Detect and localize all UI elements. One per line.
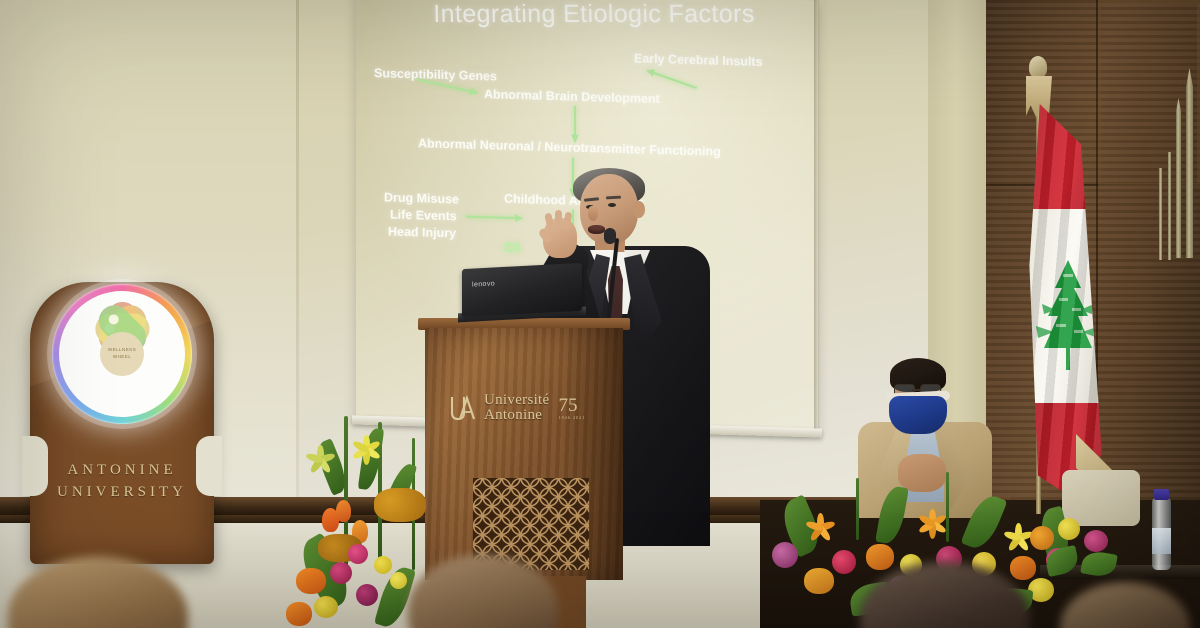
speaker-ear <box>633 201 645 218</box>
podium-anniversary-mark: 75 1946 2021 <box>558 396 585 420</box>
laptop-lid <box>462 263 582 317</box>
lily-bloom <box>304 444 336 476</box>
flag-tassels <box>1026 76 1052 118</box>
speaker-gesturing-hand <box>543 218 577 258</box>
slide-arrow-down-1 <box>574 106 576 136</box>
stand-name-line-2: UNIVERSITY <box>22 482 222 504</box>
lily-bloom <box>800 508 840 548</box>
podium-anniversary-years: 1946 2021 <box>558 416 585 420</box>
speaker-eye-right <box>608 203 616 207</box>
spire-decor-short-1 <box>1168 152 1171 260</box>
lily-bloom <box>346 430 386 470</box>
flag-finial-icon <box>1029 56 1047 78</box>
podium-anniversary-number: 75 <box>558 395 577 416</box>
seated-glasses-bridge <box>912 389 921 391</box>
bottle-label <box>1152 528 1171 554</box>
bottle-cap <box>1154 489 1169 500</box>
laptop[interactable]: lenovo <box>456 266 582 324</box>
speaker-nose <box>588 206 598 221</box>
spire-decor-tall <box>1186 68 1193 258</box>
speaker-mouth <box>588 225 605 234</box>
spire-decor-short-2 <box>1159 168 1162 260</box>
microphone-head <box>604 228 616 244</box>
wheel-hub-label-1: WELLNESS <box>108 347 136 354</box>
mustard-cluster <box>374 488 426 522</box>
slide-node-abnormal-neuronal: Abnormal Neuronal / Neurotransmitter Fun… <box>418 136 721 158</box>
flag-assembly <box>1010 44 1120 514</box>
flag-fold-shading <box>1026 104 1112 508</box>
wellness-wheel-graphic: WELLNESS WHEEL <box>52 284 192 424</box>
slide-node-drug-misuse: Drug Misuse <box>384 190 459 206</box>
podium-logo-line-1: Université <box>484 393 549 408</box>
conference-photo-scene: Integrating Etiologic Factors Susceptibi… <box>0 0 1200 628</box>
spire-decor-mid <box>1176 98 1181 258</box>
slide-arrow-insults <box>647 70 697 89</box>
lily-bloom <box>910 502 954 546</box>
slide-title: Integrating Etiologic Factors <box>404 0 785 29</box>
stand-name-line-1: ANTONINE <box>22 460 222 482</box>
laptop-brand-label: lenovo <box>472 280 495 288</box>
slide-node-head-injury: Head Injury <box>388 224 456 240</box>
wheel-hub-label-2: WHEEL <box>113 354 131 361</box>
slide-node-abnormal-brain-development: Abnormal Brain Development <box>484 87 660 106</box>
slide-node-early-cerebral-insults: Early Cerebral Insults <box>634 51 763 69</box>
seated-face-mask <box>889 396 947 434</box>
screen-right-edge <box>814 0 820 430</box>
flag-cloth <box>1026 104 1112 508</box>
wellness-wheel-stand: WELLNESS WHEEL ANTONINE UNIVERSITY <box>22 264 222 564</box>
stand-university-name: ANTONINE UNIVERSITY <box>22 460 222 504</box>
flower-arrangement-flagbase <box>1024 508 1134 588</box>
slide-arrow-risk <box>466 216 522 220</box>
slide-node-susceptibility-genes: Susceptibility Genes <box>374 66 497 83</box>
slide-node-clinical-syndrome: Cli <box>504 240 521 255</box>
slide-node-life-events: Life Events <box>390 207 457 223</box>
wheel-hub: WELLNESS WHEEL <box>100 332 144 376</box>
